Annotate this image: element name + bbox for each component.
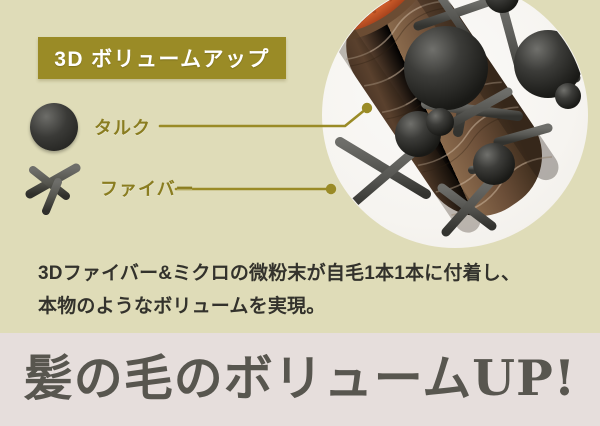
- infographic-root: 3D ボリュームアップ タルク ファイバー 3Dファイバー&ミクロの微粉末: [0, 0, 600, 426]
- description-line-2: 本物のようなボリュームを実現。: [38, 291, 568, 324]
- legend-item-talc: タルク: [30, 103, 151, 151]
- crossed-fibers-icon: [24, 160, 84, 216]
- legend-label-talc: タルク: [94, 114, 151, 140]
- description-line-1: 3Dファイバー&ミクロの微粉末が自毛1本1本に付着し、: [38, 258, 568, 291]
- legend-item-fiber: ファイバー: [24, 160, 195, 216]
- legend-label-fiber: ファイバー: [100, 175, 195, 201]
- volume-up-badge: 3D ボリュームアップ: [38, 37, 286, 79]
- talc-connector-dot: [362, 103, 372, 113]
- banner-headline: 髪の毛のボリュームUP!: [24, 354, 577, 403]
- badge-label: 3D ボリュームアップ: [54, 43, 269, 73]
- dark-sphere-icon: [30, 103, 78, 151]
- bottom-banner: 髪の毛のボリュームUP!: [0, 333, 600, 426]
- fiber-connector-dot: [326, 184, 336, 194]
- description-text: 3Dファイバー&ミクロの微粉末が自毛1本1本に付着し、 本物のようなボリュームを…: [38, 258, 568, 323]
